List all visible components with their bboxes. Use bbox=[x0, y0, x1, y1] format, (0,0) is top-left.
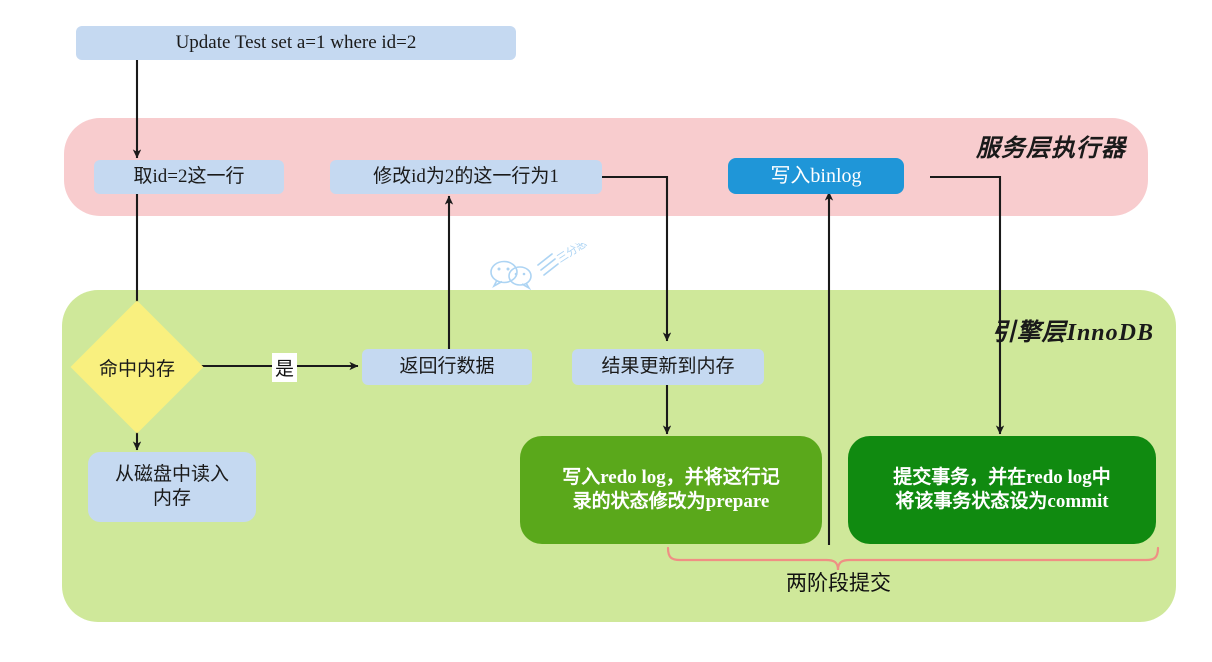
layer-label-service: 服务层执行器 bbox=[976, 128, 1126, 163]
edge-label-yes: 是 bbox=[272, 353, 297, 382]
node-sql-statement[interactable]: Update Test set a=1 where id=2 bbox=[76, 26, 516, 60]
node-modify-row[interactable]: 修改id为2的这一行为1 bbox=[330, 160, 602, 194]
wechat-watermark-icon: 三分恶 bbox=[482, 243, 592, 291]
layer-label-engine: 引擎层InnoDB bbox=[992, 312, 1154, 347]
node-hit-memory-label: 命中内存 bbox=[99, 354, 175, 381]
node-redo-log-prepare[interactable]: 写入redo log，并将这行记 录的状态修改为prepare bbox=[520, 436, 822, 544]
watermark-text: 三分恶 bbox=[555, 243, 590, 266]
node-result-to-memory[interactable]: 结果更新到内存 bbox=[572, 349, 764, 385]
node-fetch-row[interactable]: 取id=2这一行 bbox=[94, 160, 284, 194]
node-hit-memory-decision[interactable]: 命中内存 bbox=[90, 320, 184, 414]
annotation-two-phase-commit: 两阶段提交 bbox=[786, 567, 891, 597]
diagram-canvas: 服务层执行器 引擎层InnoDB bbox=[0, 0, 1212, 662]
node-redo-log-commit[interactable]: 提交事务，并在redo log中 将该事务状态设为commit bbox=[848, 436, 1156, 544]
node-write-binlog[interactable]: 写入binlog bbox=[728, 158, 904, 194]
node-return-row-data[interactable]: 返回行数据 bbox=[362, 349, 532, 385]
node-read-from-disk[interactable]: 从磁盘中读入 内存 bbox=[88, 452, 256, 522]
